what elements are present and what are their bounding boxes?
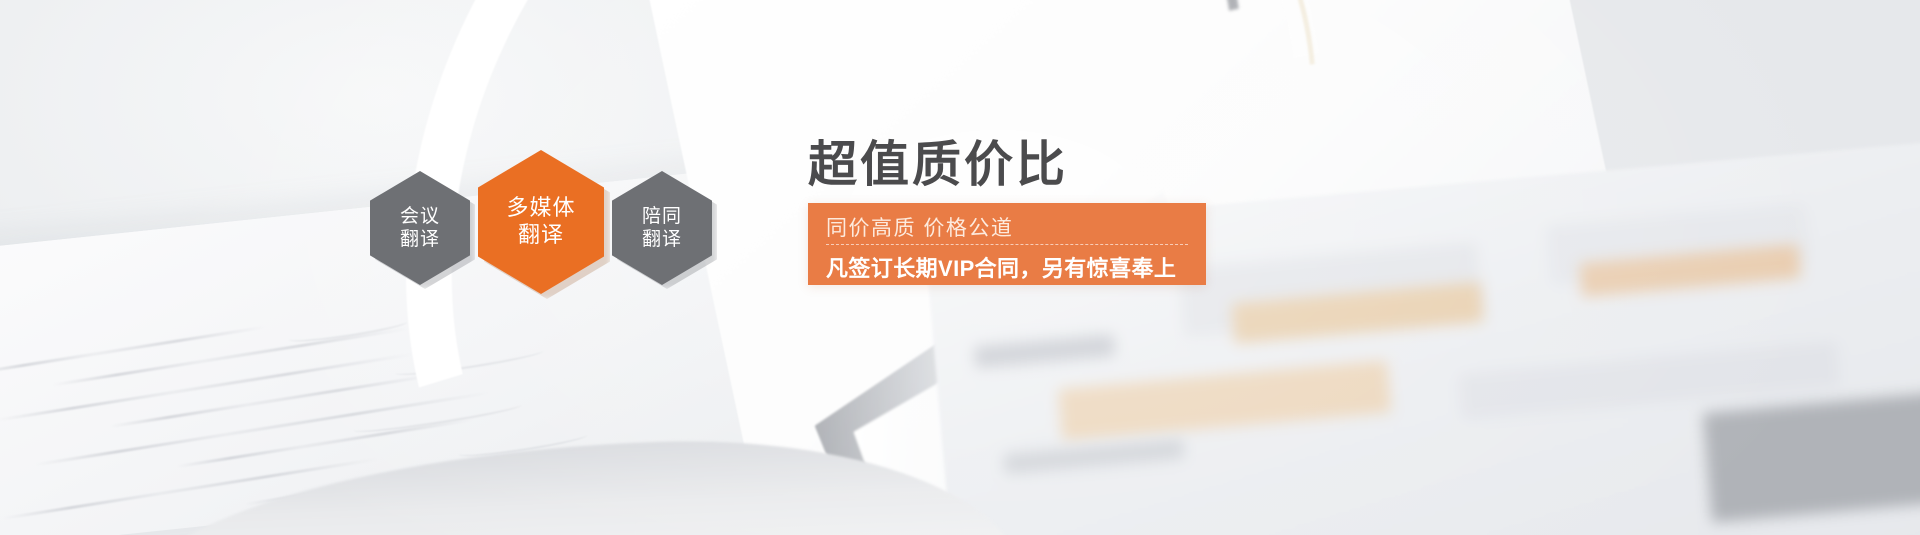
promo-panel: 同价高质 价格公道 凡签订长期VIP合同，另有惊喜奉上 xyxy=(808,203,1206,285)
hexagon-multimedia-line-2: 翻译 xyxy=(518,222,564,249)
promo-line-primary: 同价高质 价格公道 xyxy=(826,212,1013,242)
banner-headline: 超值质价比 xyxy=(808,138,1068,193)
promo-dashed-divider xyxy=(826,244,1188,245)
hexagon-escort-line-1: 陪同 xyxy=(642,205,682,228)
hexagon-escort-line-2: 翻译 xyxy=(642,228,682,251)
hexagon-conference-line-2: 翻译 xyxy=(400,228,440,251)
promotional-banner: 会议 翻译 多媒体 翻译 陪同 翻译 超值质价比 同价高质 价格公道 凡签订长期… xyxy=(0,0,1920,535)
promo-line-secondary: 凡签订长期VIP合同，另有惊喜奉上 xyxy=(826,251,1176,283)
hexagon-conference-line-1: 会议 xyxy=(400,205,440,228)
service-hexagon-group: 会议 翻译 多媒体 翻译 陪同 翻译 xyxy=(362,148,727,288)
hexagon-multimedia-line-1: 多媒体 xyxy=(506,195,575,222)
